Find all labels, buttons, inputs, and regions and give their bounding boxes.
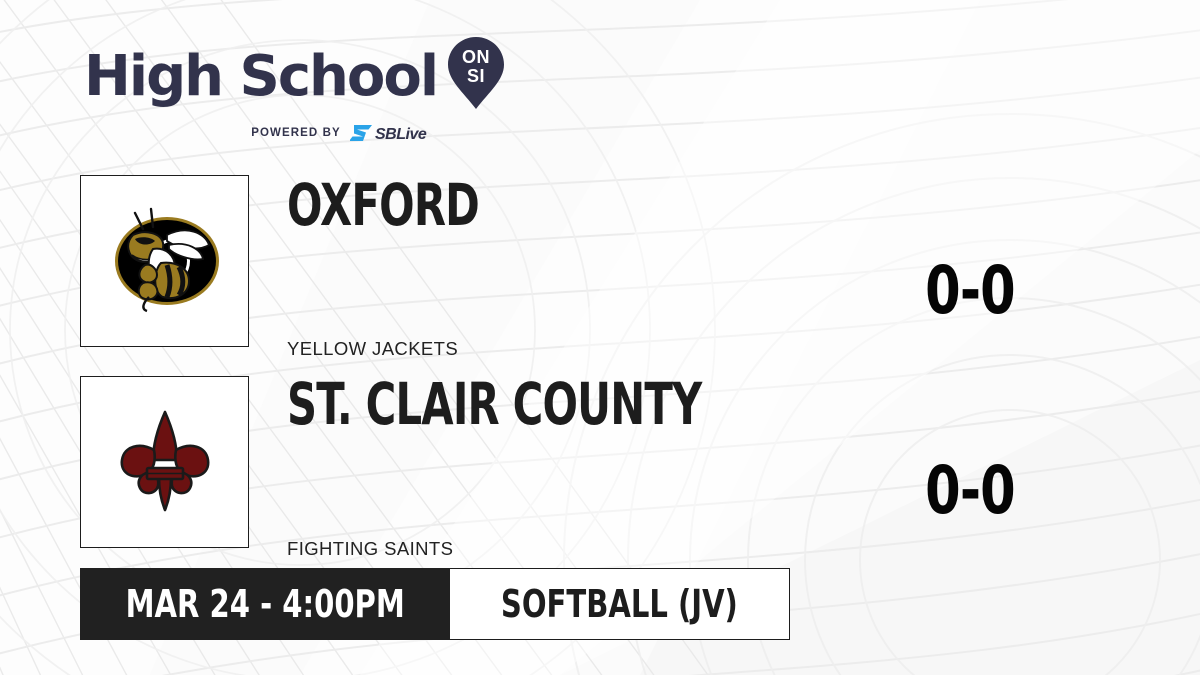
team-logo-box-1	[80, 175, 249, 347]
team-record-1: 0-0	[893, 258, 1048, 324]
event-info-bar: MAR 24 - 4:00PM SOFTBALL (JV)	[80, 568, 790, 640]
svg-text:SI: SI	[467, 66, 485, 86]
brand-title: High School	[84, 50, 437, 103]
event-datetime: MAR 24 - 4:00PM	[80, 568, 450, 640]
brand-logo: High School ON SI POWERED BY SBLive	[84, 38, 505, 143]
team-mascot-name-1: YELLOW JACKETS	[287, 338, 458, 360]
st-clair-county-fighting-saints-logo	[112, 406, 218, 518]
powered-by-label: POWERED BY	[251, 127, 341, 139]
team-record-2: 0-0	[893, 458, 1048, 524]
oxford-yellow-jackets-logo	[105, 205, 225, 317]
sblive-logo: SBLive	[350, 123, 448, 143]
onsi-pin-icon: ON SI	[447, 36, 505, 115]
team-mascot-name-2: FIGHTING SAINTS	[287, 538, 453, 560]
team-school-name-1: OXFORD	[287, 176, 479, 234]
event-datetime-text: MAR 24 - 4:00PM	[125, 585, 404, 623]
team-logo-box-2	[80, 376, 249, 548]
svg-text:ON: ON	[462, 47, 490, 67]
svg-text:SBLive: SBLive	[375, 126, 427, 143]
event-sport: SOFTBALL (JV)	[450, 568, 790, 640]
event-sport-text: SOFTBALL (JV)	[501, 585, 738, 623]
team-school-name-2: ST. CLAIR COUNTY	[287, 375, 701, 433]
